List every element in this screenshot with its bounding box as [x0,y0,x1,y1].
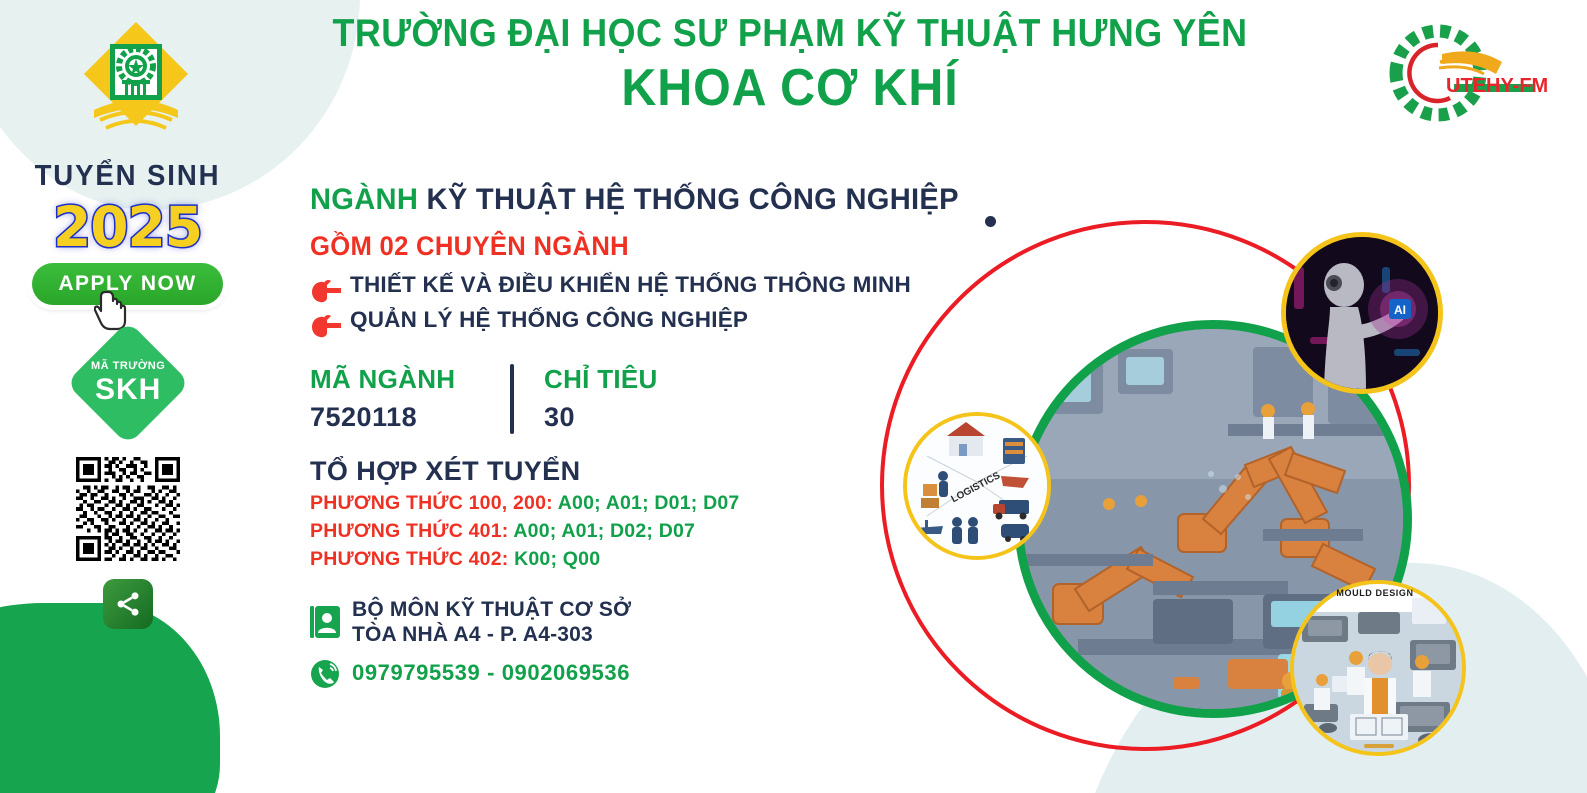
mould-design-photo [1290,580,1466,756]
major-name: KỸ THUẬT HỆ THỐNG CÔNG NGHIỆP [427,183,959,216]
school-code-label: MÃ TRƯỜNG [90,361,164,372]
mould-design-caption: MOULD DESIGN [1302,588,1448,598]
admission-label: TUYỂN SINH [6,160,248,193]
stats-divider [510,364,514,434]
qr-code[interactable] [76,457,180,561]
major-prefix: NGÀNH [310,183,418,216]
combo-method: PHƯƠNG THỨC 402: [310,548,508,570]
school-code-badge: MÃ TRƯỜNG SKH [65,321,189,445]
admission-year: 2025 [53,195,202,259]
university-name: TRƯỜNG ĐẠI HỌC SƯ PHẠM KỸ THUẬT HƯNG YÊN [293,14,1287,55]
left-rail: TUYỂN SINH 2025 APPLY NOW MÃ TRƯỜNG SKH [0,160,255,629]
fme-logo-text: UTEHY-FME [1446,75,1549,97]
contact-phone-text: 0979795539 - 0902069536 [352,660,630,686]
cursor-hand-icon [94,289,128,331]
admission-poster: TRƯỜNG ĐẠI HỌC SƯ PHẠM KỸ THUẬT HƯNG YÊN… [0,0,1587,793]
utehy-fme-logo: UTEHY-FME [1384,18,1549,128]
list-item-label: THIẾT KẾ VÀ ĐIỀU KHIỂN HỆ THỐNG THÔNG MI… [350,272,911,299]
share-icon[interactable] [103,579,153,629]
combo-codes: K00; Q00 [514,548,600,570]
apply-now-wrap[interactable]: APPLY NOW [32,263,222,305]
pointing-hand-icon [310,312,342,338]
dept-line-1: BỘ MÔN KỸ THUẬT CƠ SỞ [352,598,631,621]
ai-chip-label: AI [1394,303,1406,317]
hutech-shield-logo [76,14,196,134]
combo-method: PHƯƠNG THỨC 100, 200: [310,492,553,514]
combo-method: PHƯƠNG THỨC 401: [310,520,508,542]
list-item-label: QUẢN LÝ HỆ THỐNG CÔNG NGHIỆP [350,307,748,334]
stat-quota: CHỈ TIÊU 30 [544,364,658,433]
admission-year-wrap: 2025 [0,195,255,253]
phone-icon [310,656,341,690]
pointing-hand-icon [310,277,342,303]
stat-major-code: MÃ NGÀNH 7520118 [310,364,510,433]
stat-label: MÃ NGÀNH [310,364,510,395]
dept-line-2: TÒA NHÀ A4 - P. A4-303 [352,623,593,646]
stat-label: CHỈ TIÊU [544,364,658,395]
combo-codes: A00; A01; D01; D07 [558,492,740,514]
logistics-diagram-photo: LOGISTICS [903,412,1051,560]
school-code-value: SKH [90,375,164,405]
combo-codes: A00; A01; D02; D07 [513,520,695,542]
contact-card-icon [310,605,341,639]
contact-department-text: BỘ MÔN KỸ THUẬT CƠ SỞ TÒA NHÀ A4 - P. A4… [352,597,631,647]
header-title-block: TRƯỜNG ĐẠI HỌC SƯ PHẠM KỸ THUẬT HƯNG YÊN… [250,14,1330,119]
ai-robot-photo: AI [1281,232,1443,394]
stat-value: 30 [544,402,658,433]
faculty-name: KHOA CƠ KHÍ [288,59,1292,119]
decor-shape-green-blob [0,603,220,793]
stat-value: 7520118 [310,402,510,433]
